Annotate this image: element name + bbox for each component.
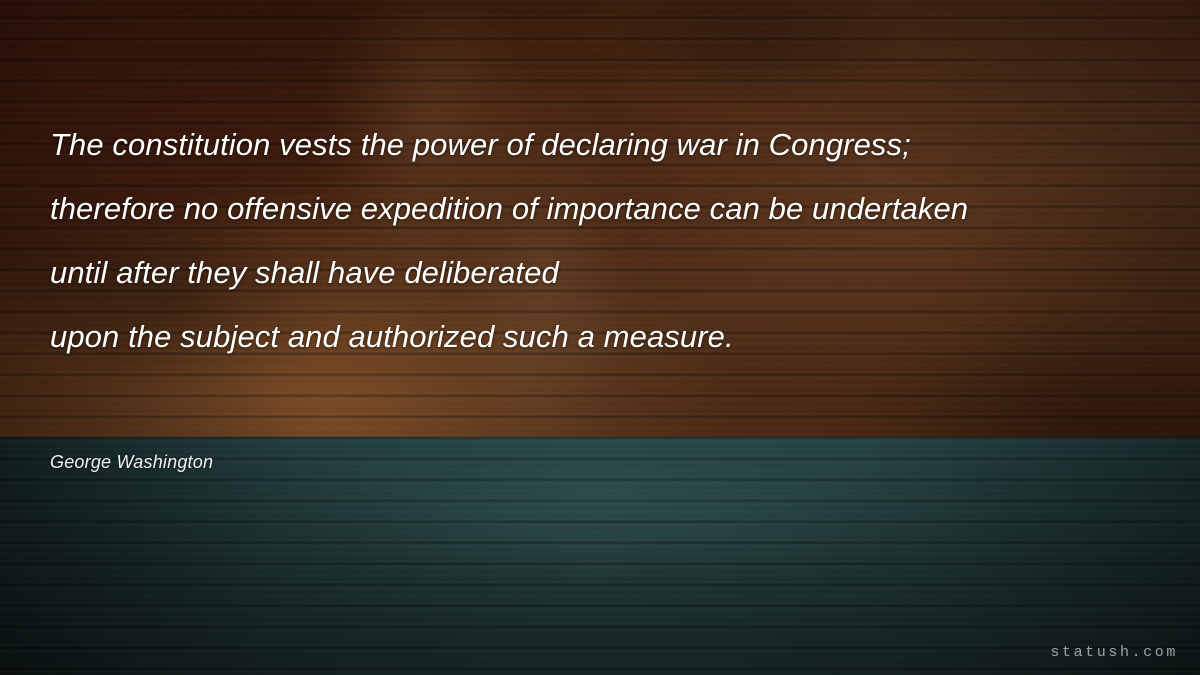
quote-line: The constitution vests the power of decl… <box>50 113 1170 177</box>
quote-line: until after they shall have deliberated <box>50 241 1170 305</box>
quote-text-block: The constitution vests the power of decl… <box>50 113 1170 369</box>
quote-line: upon the subject and authorized such a m… <box>50 305 1170 369</box>
quote-card: The constitution vests the power of decl… <box>0 0 1200 675</box>
quote-author: George Washington <box>50 449 213 475</box>
quote-line: therefore no offensive expedition of imp… <box>50 177 1170 241</box>
site-watermark: statush.com <box>1050 644 1178 661</box>
content-layer: The constitution vests the power of decl… <box>0 0 1200 675</box>
